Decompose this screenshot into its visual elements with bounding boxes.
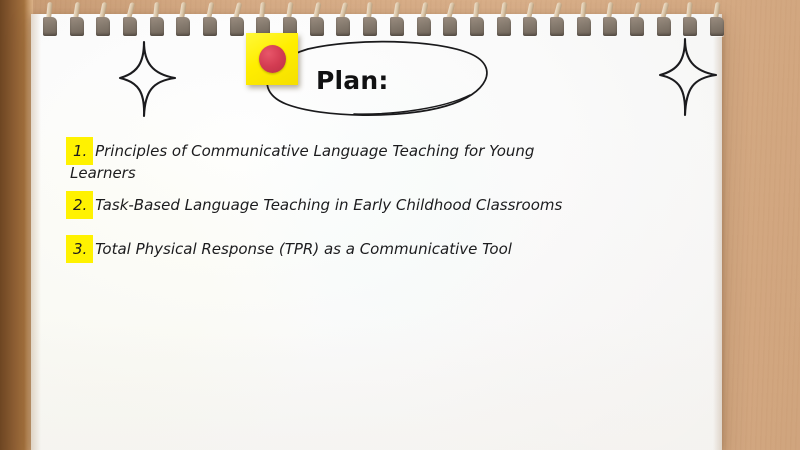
binding-hole [657,17,671,36]
binding-hole [630,17,644,36]
sparkle-icon [104,40,178,125]
slide-canvas: Plan: 1. Principles of Communicative Lan… [0,0,800,450]
binding-hole [390,17,404,36]
binding-hole [683,17,697,36]
binding-hole [203,17,217,36]
binding-hole [443,17,457,36]
binding-hole [363,17,377,36]
sparkle-icon [648,36,722,123]
list-item-number: 2. [70,194,90,216]
list-item-text: Principles of Communicative Language Tea… [70,142,534,182]
list-item: 3. Total Physical Response (TPR) as a Co… [70,238,630,260]
binding-hole [150,17,164,36]
binding-hole [70,17,84,36]
list-item-text: Total Physical Response (TPR) as a Commu… [95,240,512,258]
spiral-binding [31,0,722,44]
binding-hole [710,17,724,36]
plan-list: 1. Principles of Communicative Language … [70,140,630,260]
binding-hole [523,17,537,36]
binding-hole [603,17,617,36]
sticky-note[interactable] [246,33,298,85]
binding-hole [417,17,431,36]
list-item-number: 1. [70,140,90,162]
binding-hole [43,17,57,36]
red-pin-dot [259,45,286,73]
binding-hole [310,17,324,36]
binding-hole [96,17,110,36]
binding-hole [470,17,484,36]
page-title: Plan: [316,66,389,95]
binding-hole [497,17,511,36]
list-item: 1. Principles of Communicative Language … [70,140,550,184]
list-item-number: 3. [70,238,90,260]
binding-hole [577,17,591,36]
binding-hole [336,17,350,36]
paper-left-shadow [31,14,41,450]
binding-hole [176,17,190,36]
binding-hole [230,17,244,36]
list-item: 2. Task-Based Language Teaching in Early… [70,194,630,216]
binding-hole [550,17,564,36]
list-item-text: Task-Based Language Teaching in Early Ch… [95,196,562,214]
binding-hole [123,17,137,36]
